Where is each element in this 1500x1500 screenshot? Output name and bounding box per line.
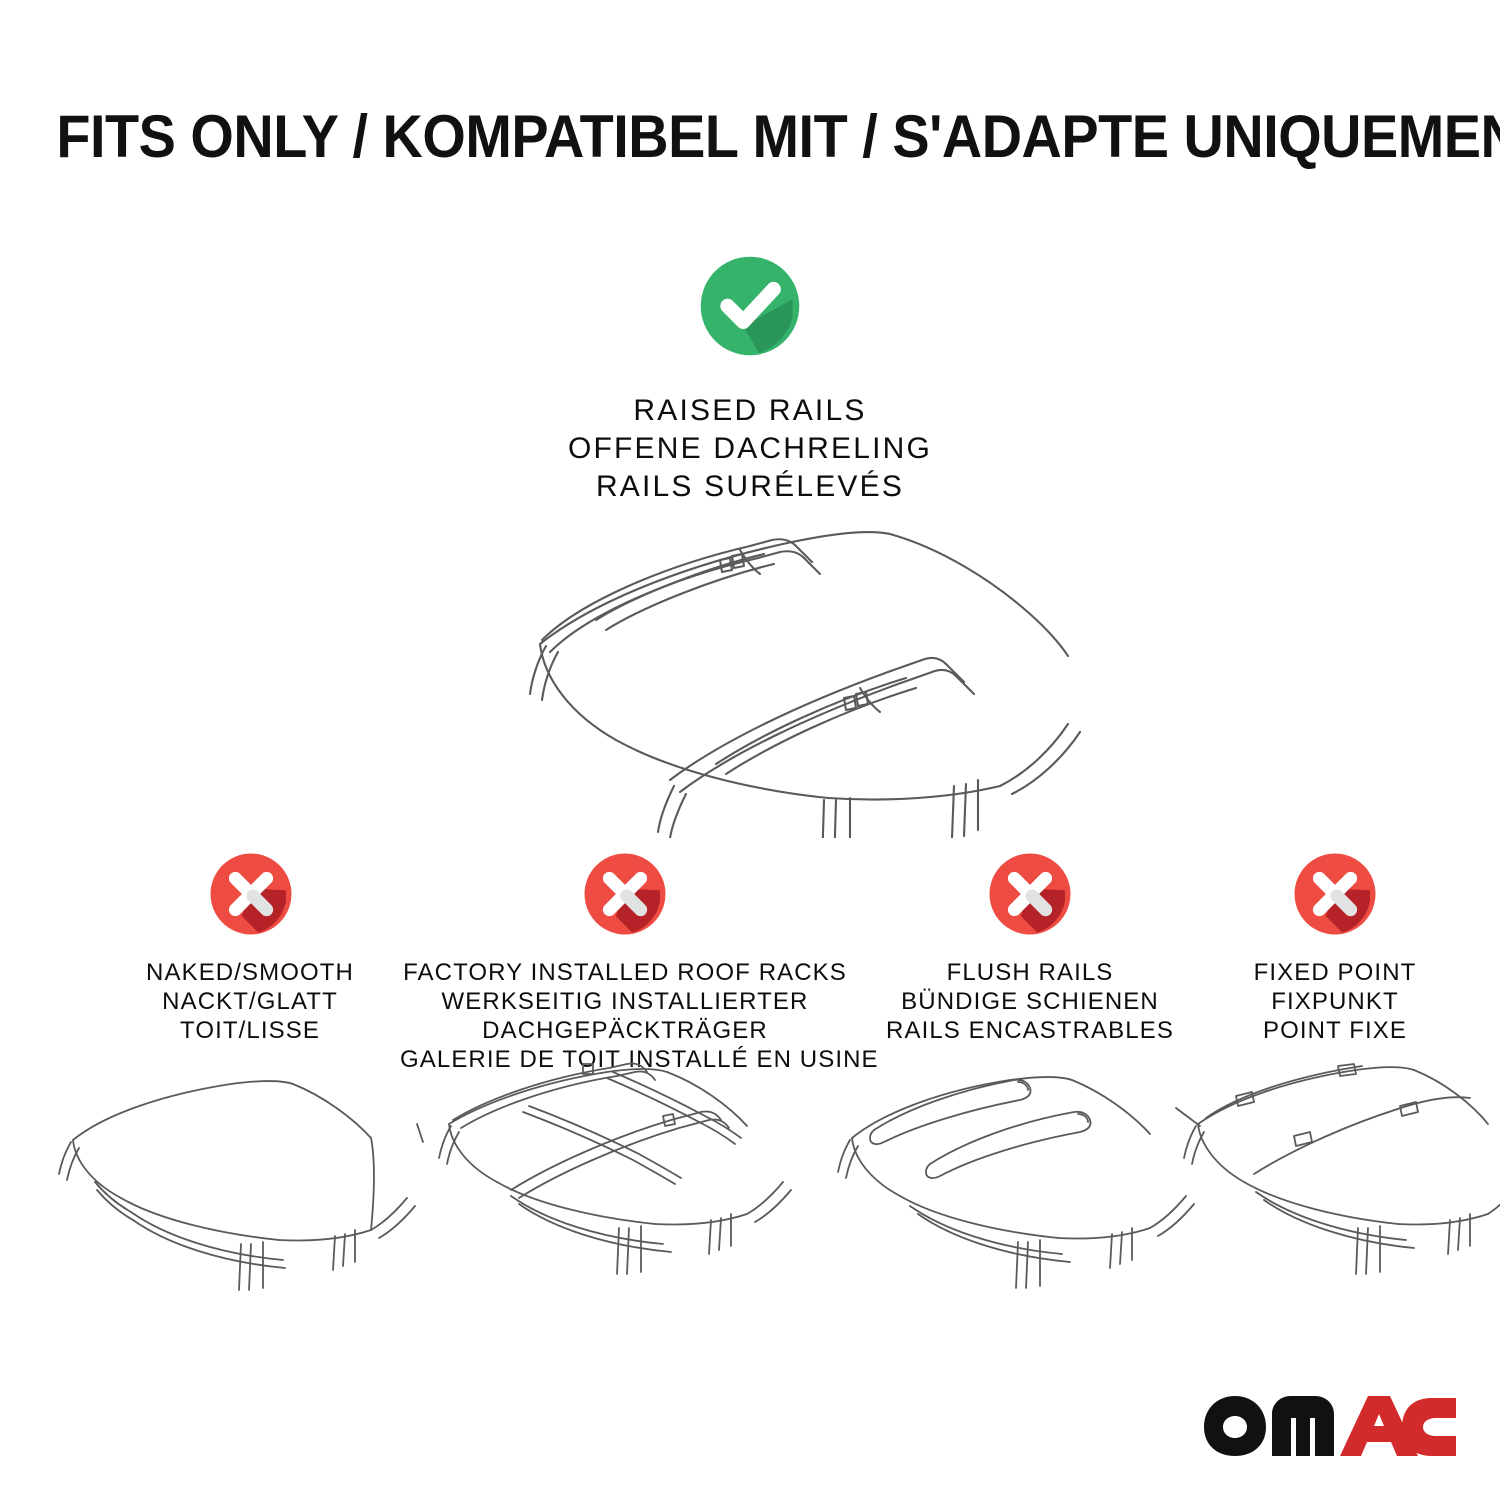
incompatible-column-naked-smooth: NAKED/SMOOTH NACKT/GLATT TOIT/LISSE (40, 848, 460, 1045)
label-en: FACTORY INSTALLED ROOF RACKS (400, 958, 850, 987)
label-fr: RAILS ENCASTRABLES (850, 1016, 1210, 1045)
label-en: FIXED POINT (1190, 958, 1480, 987)
page-title-text: FITS ONLY / KOMPATIBEL MIT / S'ADAPTE UN… (56, 104, 1500, 170)
car-roof-flush-rails-illustration (818, 1058, 1203, 1293)
x-circle-icon (984, 848, 1076, 940)
compatible-label-de: OFFENE DACHRELING (0, 430, 1500, 468)
car-roof-fixed-point-illustration (1178, 1058, 1500, 1293)
column-labels: NAKED/SMOOTH NACKT/GLATT TOIT/LISSE (40, 958, 460, 1045)
incompatible-column-fixed-point: FIXED POINT FIXPUNKT POINT FIXE (1190, 848, 1480, 1045)
label-de: NACKT/GLATT (40, 987, 460, 1016)
label-en: FLUSH RAILS (850, 958, 1210, 987)
x-circle-icon (1289, 848, 1381, 940)
logo-letter-c (1402, 1398, 1456, 1456)
column-labels: FACTORY INSTALLED ROOF RACKS WERKSEITIG … (400, 958, 850, 1074)
label-fr: TOIT/LISSE (40, 1016, 460, 1045)
x-circle-icon (579, 848, 671, 940)
check-circle-icon (694, 250, 806, 362)
x-circle-icon (205, 848, 297, 940)
label-de-2: DACHGEPÄCKTRÄGER (400, 1016, 850, 1045)
incompatible-illustrations (0, 1058, 1500, 1298)
compatible-label-fr: RAILS SURÉLEVÉS (0, 468, 1500, 506)
label-en: NAKED/SMOOTH (40, 958, 460, 987)
incompatible-column-factory-racks: FACTORY INSTALLED ROOF RACKS WERKSEITIG … (400, 848, 850, 1074)
page-title: FITS ONLY / KOMPATIBEL MIT / S'ADAPTE UN… (0, 104, 1500, 170)
car-roof-factory-racks-illustration (415, 1058, 815, 1293)
label-de: BÜNDIGE SCHIENEN (850, 987, 1210, 1016)
car-roof-raised-rails-illustration (420, 518, 1090, 838)
car-roof-naked-smooth-illustration (35, 1058, 425, 1293)
label-fr: POINT FIXE (1190, 1016, 1480, 1045)
column-labels: FLUSH RAILS BÜNDIGE SCHIENEN RAILS ENCAS… (850, 958, 1210, 1045)
logo-letter-m (1272, 1396, 1334, 1456)
omac-logo-mark (1202, 1392, 1458, 1458)
compatible-labels: RAISED RAILS OFFENE DACHRELING RAILS SUR… (0, 392, 1500, 506)
compatible-section: RAISED RAILS OFFENE DACHRELING RAILS SUR… (0, 250, 1500, 506)
label-de-1: WERKSEITIG INSTALLIERTER (400, 987, 850, 1016)
column-labels: FIXED POINT FIXPUNKT POINT FIXE (1190, 958, 1480, 1045)
compatible-label-en: RAISED RAILS (0, 392, 1500, 430)
label-de: FIXPUNKT (1190, 987, 1480, 1016)
omac-logo (1202, 1392, 1458, 1458)
incompatible-column-flush-rails: FLUSH RAILS BÜNDIGE SCHIENEN RAILS ENCAS… (850, 848, 1210, 1045)
logo-letter-o (1204, 1396, 1266, 1456)
